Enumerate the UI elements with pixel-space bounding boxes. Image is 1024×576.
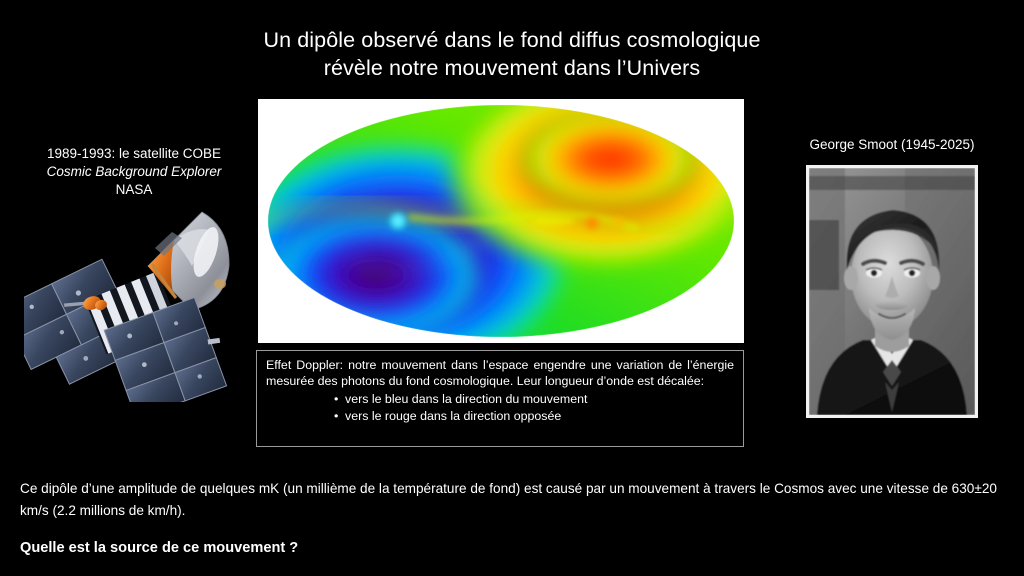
george-smoot-portrait xyxy=(809,168,975,415)
cobe-caption-line-fullname: Cosmic Background Explorer xyxy=(8,163,260,181)
question-line: Quelle est la source de ce mouvement ? xyxy=(20,538,720,558)
smoot-portrait-frame xyxy=(806,165,978,418)
doppler-bullet-red: •vers le rouge dans la direction opposée xyxy=(266,408,734,425)
cmb-dipole-map xyxy=(258,99,744,343)
doppler-bullet-list: •vers le bleu dans la direction du mouve… xyxy=(266,391,734,425)
doppler-explanation-box: Effet Doppler: notre mouvement dans l’es… xyxy=(256,350,744,447)
doppler-paragraph: Effet Doppler: notre mouvement dans l’es… xyxy=(266,357,734,390)
cobe-satellite-image xyxy=(24,206,240,402)
bullet-icon: • xyxy=(334,408,345,425)
cobe-caption-line-mission: 1989-1993: le satellite COBE xyxy=(8,145,260,163)
cmb-map-panel xyxy=(258,99,744,343)
bullet-icon: • xyxy=(334,391,345,408)
doppler-bullet-red-label: vers le rouge dans la direction opposée xyxy=(345,409,561,423)
cobe-caption: 1989-1993: le satellite COBE Cosmic Back… xyxy=(8,145,260,199)
summary-paragraph: Ce dipôle d’une amplitude de quelques mK… xyxy=(20,478,1006,522)
page-title-line-2: révèle notre mouvement dans l’Univers xyxy=(0,54,1024,82)
doppler-bullet-blue: •vers le bleu dans la direction du mouve… xyxy=(266,391,734,408)
cobe-caption-line-agency: NASA xyxy=(8,181,260,199)
page-title: Un dipôle observé dans le fond diffus co… xyxy=(0,26,1024,82)
page-title-line-1: Un dipôle observé dans le fond diffus co… xyxy=(0,26,1024,54)
smoot-caption: George Smoot (1945-2025) xyxy=(764,136,1020,154)
cobe-satellite-icon xyxy=(24,206,240,402)
doppler-bullet-blue-label: vers le bleu dans la direction du mouvem… xyxy=(345,392,587,406)
